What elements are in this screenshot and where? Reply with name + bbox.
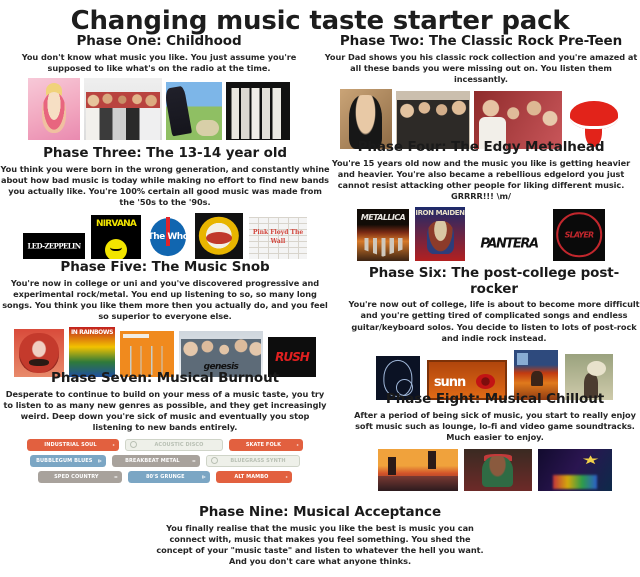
girls-aloud-band-photo	[226, 82, 290, 140]
genre-pill-grid: INDUSTRIAL SOUL ▸ ACOUSTIC DISCO SKATE F…	[0, 439, 330, 483]
phase-nine-block: Phase Nine: Musical Acceptance You final…	[155, 505, 485, 568]
genre-tag: ▮▸	[98, 458, 102, 463]
genre-pill-alt-mambo[interactable]: ALT MAMBO ▸	[216, 471, 292, 483]
phase-eight-images	[350, 449, 640, 491]
genre-tag: ▸	[286, 474, 288, 479]
slayer-logo: SLAYER	[553, 209, 605, 261]
phase-eight-block: Phase Eight: Musical Chillout After a pe…	[350, 392, 640, 491]
genesis-label: genesis	[179, 362, 263, 372]
phase-one-block: Phase One: Childhood You don't know what…	[0, 34, 318, 140]
rush-label: RUSH	[268, 350, 316, 364]
phase-five-body: You're now in college or uni and you've …	[0, 278, 330, 323]
iron-maiden-the-trooper-album-cover: IRON MAIDEN	[415, 207, 465, 261]
phase-six-heading: Phase Six: The post-college post-rocker	[348, 266, 640, 297]
phase-eight-body: After a period of being sick of music, y…	[350, 410, 640, 444]
genesis-band-photo: genesis	[179, 331, 263, 377]
genre-pill-bubblegum-blues[interactable]: BUBBLEGUM BLUES ▮▸	[30, 455, 106, 467]
phase-two-heading: Phase Two: The Classic Rock Pre-Teen	[322, 34, 640, 50]
nirvana-logo-label: NIRVANA	[91, 219, 141, 229]
genre-label: ACOUSTIC DISCO	[140, 442, 218, 448]
phase-one-heading: Phase One: Childhood	[0, 34, 318, 50]
in-rainbows-label: IN RAINBOWS	[69, 329, 115, 336]
phase-nine-body: You finally realise that the music you l…	[155, 523, 485, 568]
genre-label: ALT MAMBO	[220, 474, 283, 480]
genre-label: BLUEGRASS SYNTH	[221, 458, 295, 464]
phase-seven-block: Phase Seven: Musical Burnout Desperate t…	[0, 371, 330, 483]
genre-pill-bluegrass-synth[interactable]: BLUEGRASS SYNTH	[206, 455, 300, 467]
record-dot-icon	[211, 457, 218, 464]
pink-floyd-the-wall-label: Pink Floyd The Wall	[249, 228, 307, 246]
genre-label: INDUSTRIAL SOUL	[31, 442, 110, 448]
phase-five-block: Phase Five: The Music Snob You're now in…	[0, 260, 330, 377]
iron-maiden-label: IRON MAIDEN	[415, 209, 465, 217]
phase-three-block: Phase Three: The 13-14 year old You thin…	[0, 146, 330, 259]
genre-tag: ▸	[297, 442, 299, 447]
nirvana-logo: NIRVANA	[91, 215, 141, 259]
phase-one-images	[0, 78, 318, 140]
hannah-montana-album-cover	[28, 78, 80, 140]
genre-tag: ▮▸	[202, 474, 206, 479]
genre-pill-skate-folk[interactable]: SKATE FOLK ▸	[229, 439, 303, 451]
phase-three-heading: Phase Three: The 13-14 year old	[0, 146, 330, 162]
genre-tag: ◂▸	[114, 474, 118, 479]
slayer-label: SLAYER	[553, 230, 605, 239]
pantera-logo: PANTERA	[471, 227, 547, 261]
the-who-logo-label: The Who	[147, 232, 189, 242]
genre-tag: ◂▸	[192, 458, 196, 463]
genre-pill-80s-grunge[interactable]: 80'S GRUNGE ▮▸	[128, 471, 210, 483]
pink-floyd-the-wall-album-cover: Pink Floyd The Wall	[249, 217, 307, 259]
one-direction-band-photo	[84, 78, 162, 140]
genre-pill-row: INDUSTRIAL SOUL ▸ ACOUSTIC DISCO SKATE F…	[27, 439, 303, 451]
led-zeppelin-logo: LED-ZEPPELIN	[23, 233, 85, 259]
genre-label: SPED COUNTRY	[42, 474, 111, 480]
the-who-logo: The Who	[147, 215, 189, 259]
pantera-label: PANTERA	[471, 236, 547, 251]
record-dot-icon	[130, 441, 137, 448]
phase-four-body: You're 15 years old now and the music yo…	[322, 158, 640, 203]
phase-six-block: Phase Six: The post-college post-rocker …	[348, 266, 640, 400]
phase-nine-heading: Phase Nine: Musical Acceptance	[155, 505, 485, 521]
phase-two-block: Phase Two: The Classic Rock Pre-Teen You…	[322, 34, 640, 149]
phase-three-images: LED-ZEPPELIN NIRVANA The Who Pink Floyd …	[0, 213, 330, 259]
video-game-soundtrack-artwork	[538, 449, 612, 491]
phase-seven-body: Desperate to continue to build on your m…	[0, 389, 330, 434]
phase-five-heading: Phase Five: The Music Snob	[0, 260, 330, 276]
phase-three-body: You think you were born in the wrong gen…	[0, 164, 330, 209]
genre-label: SKATE FOLK	[233, 442, 294, 448]
page-title: Changing music taste starter pack	[0, 6, 640, 36]
genre-pill-industrial-soul[interactable]: INDUSTRIAL SOUL ▸	[27, 439, 119, 451]
guns-n-roses-logo	[195, 213, 243, 259]
genre-tag: ▸	[113, 442, 115, 447]
starter-pack-image: Changing music taste starter pack Phase …	[0, 0, 640, 577]
genre-label: BREAKBEAT METAL	[116, 458, 189, 464]
led-zeppelin-logo-label: LED-ZEPPELIN	[23, 241, 85, 250]
lofi-hip-hop-girl-artwork	[464, 449, 532, 491]
genre-pill-row: BUBBLEGUM BLUES ▮▸ BREAKBEAT METAL ◂▸ BL…	[30, 455, 300, 467]
avril-lavigne-let-go-album-cover	[166, 82, 222, 140]
genre-pill-breakbeat-metal[interactable]: BREAKBEAT METAL ◂▸	[112, 455, 200, 467]
phase-two-body: Your Dad shows you his classic rock coll…	[322, 52, 640, 86]
genre-pill-row: SPED COUNTRY ◂▸ 80'S GRUNGE ▮▸ ALT MAMBO	[38, 471, 292, 483]
genre-label: 80'S GRUNGE	[132, 474, 199, 480]
genre-label: BUBBLEGUM BLUES	[34, 458, 95, 464]
phase-four-heading: Phase Four: The Edgy Metalhead	[322, 140, 640, 156]
phase-eight-heading: Phase Eight: Musical Chillout	[350, 392, 640, 408]
sunn-label: sunn	[429, 375, 505, 390]
metallica-label: METALLICA	[357, 213, 409, 222]
lounge-palm-sunset-album-cover	[378, 449, 458, 491]
phase-one-body: You don't know what music you like. You …	[0, 52, 318, 75]
phase-four-images: METALLICA IRON MAIDEN PANTERA SLAYER	[322, 207, 640, 261]
phase-seven-heading: Phase Seven: Musical Burnout	[0, 371, 330, 387]
metallica-master-of-puppets-album-cover: METALLICA	[357, 209, 409, 261]
genre-pill-acoustic-disco[interactable]: ACOUSTIC DISCO	[125, 439, 223, 451]
phase-four-block: Phase Four: The Edgy Metalhead You're 15…	[322, 140, 640, 261]
phase-six-body: You're now out of college, life is about…	[348, 299, 640, 344]
genre-pill-sped-country[interactable]: SPED COUNTRY ◂▸	[38, 471, 122, 483]
